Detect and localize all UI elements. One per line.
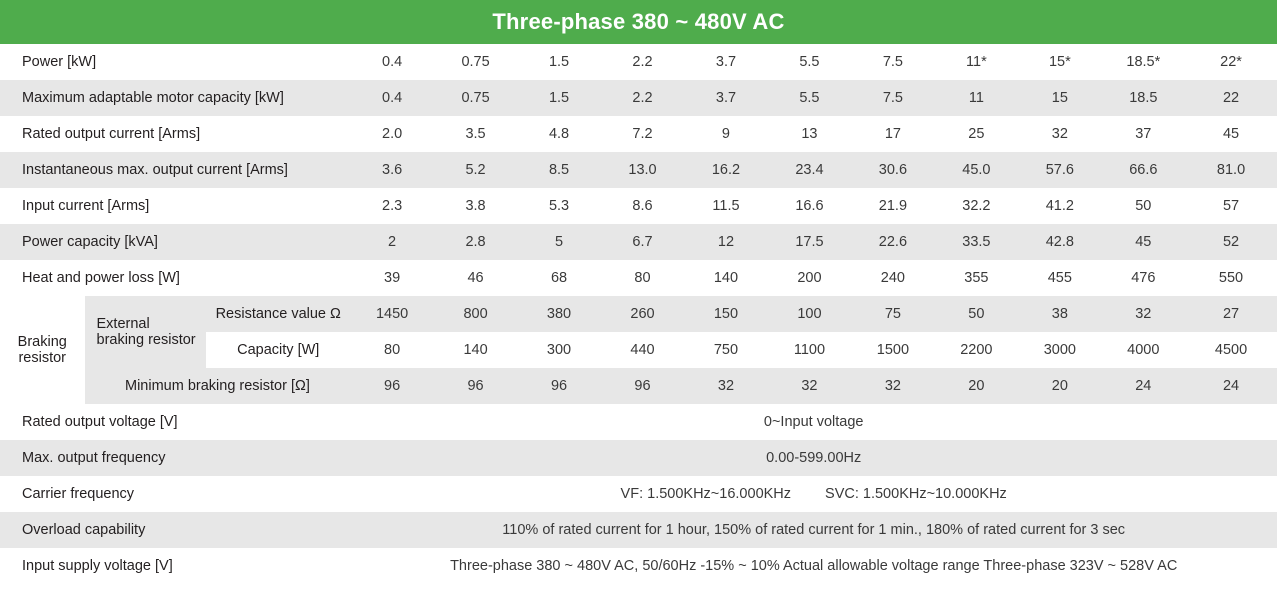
cell-value: 25 xyxy=(935,116,1018,152)
cell-value: 7.2 xyxy=(601,116,684,152)
cell-value: 96 xyxy=(434,368,517,404)
specification-table: Three-phase 380 ~ 480V AC Power [kW] 0.4… xyxy=(0,0,1277,584)
cell-value-carrier: VF: 1.500KHz~16.000KHzSVC: 1.500KHz~10.0… xyxy=(350,476,1277,512)
cell-value: 18.5 xyxy=(1102,80,1185,116)
table-row-instantaneous-max-current: Instantaneous max. output current [Arms]… xyxy=(0,152,1277,188)
cell-value: 24 xyxy=(1102,368,1185,404)
row-label: Rated output current [Arms] xyxy=(0,116,350,152)
cell-value: 32 xyxy=(1018,116,1101,152)
cell-value: 30.6 xyxy=(851,152,934,188)
cell-value: 110% of rated current for 1 hour, 150% o… xyxy=(350,512,1277,548)
table-row-minimum-braking-resistor: Minimum braking resistor [Ω] 96 96 96 96… xyxy=(0,368,1277,404)
cell-value: 17 xyxy=(851,116,934,152)
carrier-value-vf: VF: 1.500KHz~16.000KHz xyxy=(621,486,791,502)
table-row-heat-power-loss: Heat and power loss [W] 39 46 68 80 140 … xyxy=(0,260,1277,296)
cell-value: 15* xyxy=(1018,44,1101,80)
table-row-power-capacity: Power capacity [kVA] 2 2.8 5 6.7 12 17.5… xyxy=(0,224,1277,260)
cell-value: 800 xyxy=(434,296,517,332)
cell-value: 11* xyxy=(935,44,1018,80)
cell-value: 2.0 xyxy=(350,116,433,152)
cell-value: 21.9 xyxy=(851,188,934,224)
table-row-input-current: Input current [Arms] 2.3 3.8 5.3 8.6 11.… xyxy=(0,188,1277,224)
cell-value: 476 xyxy=(1102,260,1185,296)
cell-value: 50 xyxy=(935,296,1018,332)
row-group-label-external-braking-resistor: External braking resistor xyxy=(85,296,207,368)
cell-value: 12 xyxy=(684,224,767,260)
cell-value: 9 xyxy=(684,116,767,152)
cell-value: 42.8 xyxy=(1018,224,1101,260)
table-row-input-supply-voltage: Input supply voltage [V] Three-phase 380… xyxy=(0,548,1277,584)
cell-value: 96 xyxy=(601,368,684,404)
cell-value: 4.8 xyxy=(517,116,600,152)
cell-value: 200 xyxy=(768,260,851,296)
cell-value: 0.75 xyxy=(434,44,517,80)
row-label: Resistance value Ω xyxy=(206,296,350,332)
table-row-max-output-frequency: Max. output frequency 0.00-599.00Hz xyxy=(0,440,1277,476)
cell-value: 20 xyxy=(1018,368,1101,404)
cell-value: 45 xyxy=(1185,116,1277,152)
cell-value: 150 xyxy=(684,296,767,332)
cell-value: 16.6 xyxy=(768,188,851,224)
cell-value: 68 xyxy=(517,260,600,296)
cell-value: 16.2 xyxy=(684,152,767,188)
cell-value: 32.2 xyxy=(935,188,1018,224)
cell-value: 38 xyxy=(1018,296,1101,332)
cell-value: 13.0 xyxy=(601,152,684,188)
cell-value: 37 xyxy=(1102,116,1185,152)
cell-value: 32 xyxy=(768,368,851,404)
cell-value: 5.5 xyxy=(768,44,851,80)
cell-value: 0.00-599.00Hz xyxy=(350,440,1277,476)
cell-value: 8.6 xyxy=(601,188,684,224)
cell-value: 20 xyxy=(935,368,1018,404)
cell-value: 11 xyxy=(935,80,1018,116)
cell-value: 300 xyxy=(517,332,600,368)
cell-value: 5.5 xyxy=(768,80,851,116)
row-label: Instantaneous max. output current [Arms] xyxy=(0,152,350,188)
cell-value: 5.2 xyxy=(434,152,517,188)
cell-value: 0.4 xyxy=(350,44,433,80)
cell-value: 140 xyxy=(434,332,517,368)
cell-value: 2.2 xyxy=(601,44,684,80)
row-group-label-braking-resistor: Braking resistor xyxy=(0,296,85,404)
table-row-resistance-value: Braking resistor External braking resist… xyxy=(0,296,1277,332)
cell-value: 8.5 xyxy=(517,152,600,188)
cell-value: 380 xyxy=(517,296,600,332)
row-label: Overload capability xyxy=(0,512,350,548)
row-label: Rated output voltage [V] xyxy=(0,404,350,440)
page-title: Three-phase 380 ~ 480V AC xyxy=(0,0,1277,44)
cell-value: 27 xyxy=(1185,296,1277,332)
cell-value: 3.7 xyxy=(684,80,767,116)
cell-value: Three-phase 380 ~ 480V AC, 50/60Hz -15% … xyxy=(350,548,1277,584)
carrier-value-svc: SVC: 1.500KHz~10.000KHz xyxy=(825,486,1007,502)
cell-value: 260 xyxy=(601,296,684,332)
cell-value: 50 xyxy=(1102,188,1185,224)
cell-value: 1.5 xyxy=(517,80,600,116)
cell-value: 440 xyxy=(601,332,684,368)
cell-value: 0~Input voltage xyxy=(350,404,1277,440)
row-label: Heat and power loss [W] xyxy=(0,260,350,296)
cell-value: 52 xyxy=(1185,224,1277,260)
cell-value: 2200 xyxy=(935,332,1018,368)
cell-value: 5.3 xyxy=(517,188,600,224)
cell-value: 0.4 xyxy=(350,80,433,116)
table-row-rated-output-voltage: Rated output voltage [V] 0~Input voltage xyxy=(0,404,1277,440)
cell-value: 3.7 xyxy=(684,44,767,80)
cell-value: 57.6 xyxy=(1018,152,1101,188)
cell-value: 39 xyxy=(350,260,433,296)
row-label: Input current [Arms] xyxy=(0,188,350,224)
cell-value: 550 xyxy=(1185,260,1277,296)
cell-value: 240 xyxy=(851,260,934,296)
cell-value: 33.5 xyxy=(935,224,1018,260)
cell-value: 11.5 xyxy=(684,188,767,224)
cell-value: 5 xyxy=(517,224,600,260)
table-row-motor-capacity: Maximum adaptable motor capacity [kW] 0.… xyxy=(0,80,1277,116)
row-label: Input supply voltage [V] xyxy=(0,548,350,584)
row-label: Power [kW] xyxy=(0,44,350,80)
cell-value: 24 xyxy=(1185,368,1277,404)
cell-value: 1450 xyxy=(350,296,433,332)
cell-value: 57 xyxy=(1185,188,1277,224)
cell-value: 41.2 xyxy=(1018,188,1101,224)
table-row-carrier-frequency: Carrier frequency VF: 1.500KHz~16.000KHz… xyxy=(0,476,1277,512)
row-label: Carrier frequency xyxy=(0,476,350,512)
cell-value: 22 xyxy=(1185,80,1277,116)
cell-value: 4500 xyxy=(1185,332,1277,368)
cell-value: 3.6 xyxy=(350,152,433,188)
cell-value: 13 xyxy=(768,116,851,152)
cell-value: 1100 xyxy=(768,332,851,368)
cell-value: 3.8 xyxy=(434,188,517,224)
cell-value: 1500 xyxy=(851,332,934,368)
row-label: Minimum braking resistor [Ω] xyxy=(85,368,351,404)
cell-value: 17.5 xyxy=(768,224,851,260)
cell-value: 2.8 xyxy=(434,224,517,260)
table-header-row: Three-phase 380 ~ 480V AC xyxy=(0,0,1277,44)
cell-value: 140 xyxy=(684,260,767,296)
cell-value: 32 xyxy=(1102,296,1185,332)
cell-value: 23.4 xyxy=(768,152,851,188)
cell-value: 3000 xyxy=(1018,332,1101,368)
cell-value: 75 xyxy=(851,296,934,332)
cell-value: 750 xyxy=(684,332,767,368)
cell-value: 18.5* xyxy=(1102,44,1185,80)
cell-value: 6.7 xyxy=(601,224,684,260)
cell-value: 22.6 xyxy=(851,224,934,260)
cell-value: 15 xyxy=(1018,80,1101,116)
row-label: Maximum adaptable motor capacity [kW] xyxy=(0,80,350,116)
table-row-rated-output-current: Rated output current [Arms] 2.0 3.5 4.8 … xyxy=(0,116,1277,152)
cell-value: 7.5 xyxy=(851,80,934,116)
table-row-overload-capability: Overload capability 110% of rated curren… xyxy=(0,512,1277,548)
cell-value: 2.3 xyxy=(350,188,433,224)
cell-value: 32 xyxy=(684,368,767,404)
cell-value: 45.0 xyxy=(935,152,1018,188)
cell-value: 455 xyxy=(1018,260,1101,296)
cell-value: 45 xyxy=(1102,224,1185,260)
cell-value: 22* xyxy=(1185,44,1277,80)
cell-value: 7.5 xyxy=(851,44,934,80)
cell-value: 66.6 xyxy=(1102,152,1185,188)
cell-value: 81.0 xyxy=(1185,152,1277,188)
cell-value: 3.5 xyxy=(434,116,517,152)
cell-value: 0.75 xyxy=(434,80,517,116)
row-label: Capacity [W] xyxy=(206,332,350,368)
cell-value: 2.2 xyxy=(601,80,684,116)
row-label: Max. output frequency xyxy=(0,440,350,476)
cell-value: 355 xyxy=(935,260,1018,296)
cell-value: 80 xyxy=(350,332,433,368)
cell-value: 96 xyxy=(350,368,433,404)
cell-value: 4000 xyxy=(1102,332,1185,368)
cell-value: 100 xyxy=(768,296,851,332)
cell-value: 32 xyxy=(851,368,934,404)
cell-value: 96 xyxy=(517,368,600,404)
cell-value: 2 xyxy=(350,224,433,260)
cell-value: 1.5 xyxy=(517,44,600,80)
table-row-power: Power [kW] 0.4 0.75 1.5 2.2 3.7 5.5 7.5 … xyxy=(0,44,1277,80)
cell-value: 46 xyxy=(434,260,517,296)
row-label: Power capacity [kVA] xyxy=(0,224,350,260)
cell-value: 80 xyxy=(601,260,684,296)
